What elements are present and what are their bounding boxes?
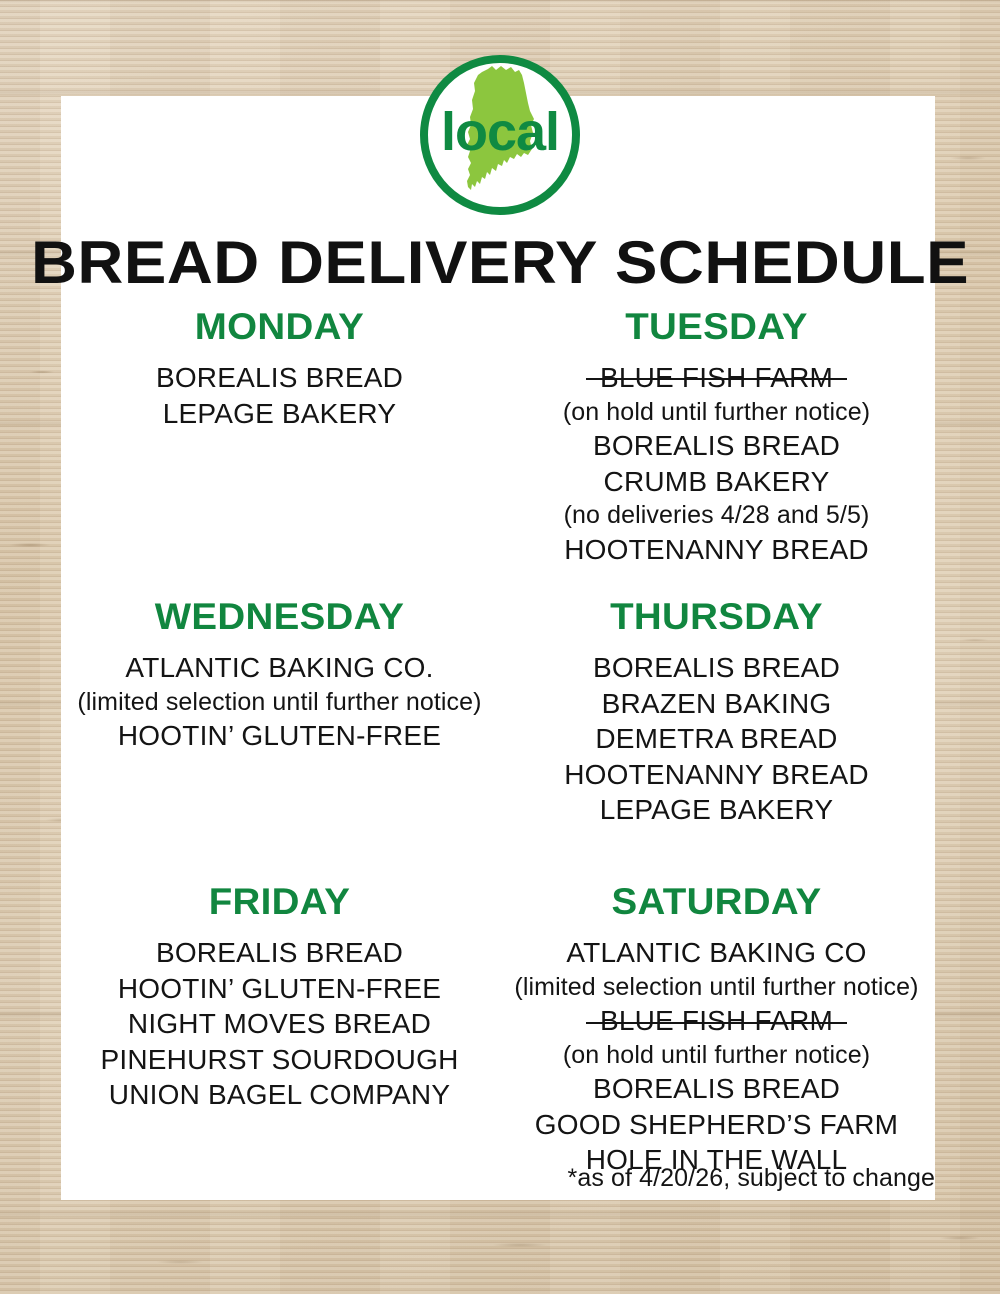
vendor-name: BLUE FISH FARM [498, 1003, 935, 1039]
delivery-note: (on hold until further notice) [498, 1039, 935, 1072]
schedule-row-2: WEDNESDAY ATLANTIC BAKING CO.(limited se… [61, 596, 935, 881]
day-column-thursday: THURSDAY BOREALIS BREADBRAZEN BAKINGDEME… [498, 596, 935, 881]
vendor-name: BOREALIS BREAD [61, 360, 498, 396]
vendor-name: BRAZEN BAKING [498, 686, 935, 722]
schedule-row-1: MONDAY BOREALIS BREADLEPAGE BAKERY TUESD… [61, 306, 935, 596]
day-heading-wednesday: WEDNESDAY [52, 596, 506, 638]
day-heading-thursday: THURSDAY [489, 596, 943, 638]
delivery-note: (no deliveries 4/28 and 5/5) [498, 499, 935, 532]
day-column-wednesday: WEDNESDAY ATLANTIC BAKING CO.(limited se… [61, 596, 498, 881]
vendor-name: PINEHURST SOURDOUGH [61, 1042, 498, 1078]
vendor-name: CRUMB BAKERY [498, 464, 935, 500]
day-entries-friday: BOREALIS BREADHOOTIN’ GLUTEN-FREENIGHT M… [61, 935, 498, 1113]
vendor-name: DEMETRA BREAD [498, 721, 935, 757]
logo-wordmark: local [441, 102, 559, 162]
delivery-note: (limited selection until further notice) [61, 686, 498, 719]
day-heading-monday: MONDAY [52, 306, 506, 348]
schedule-grid: MONDAY BOREALIS BREADLEPAGE BAKERY TUESD… [61, 306, 935, 881]
day-entries-tuesday: BLUE FISH FARM(on hold until further not… [498, 360, 935, 567]
day-entries-wednesday: ATLANTIC BAKING CO.(limited selection un… [61, 650, 498, 754]
delivery-note: (limited selection until further notice) [498, 971, 935, 1004]
day-entries-saturday: ATLANTIC BAKING CO(limited selection unt… [498, 935, 935, 1178]
vendor-name: ATLANTIC BAKING CO [498, 935, 935, 971]
vendor-name: BOREALIS BREAD [498, 428, 935, 464]
vendor-name: HOOTENANNY BREAD [498, 532, 935, 568]
delivery-note: (on hold until further notice) [498, 396, 935, 429]
vendor-name: LEPAGE BAKERY [498, 792, 935, 828]
vendor-name: BOREALIS BREAD [498, 650, 935, 686]
local-logo: local [418, 53, 582, 217]
vendor-name: BOREALIS BREAD [498, 1071, 935, 1107]
vendor-name: GOOD SHEPHERD’S FARM [498, 1107, 935, 1143]
vendor-name-struck: BLUE FISH FARM [600, 1003, 833, 1039]
page-title: BREAD DELIVERY SCHEDULE [0, 228, 1000, 297]
vendor-name: NIGHT MOVES BREAD [61, 1006, 498, 1042]
local-logo-svg: local [418, 53, 582, 217]
day-heading-saturday: SATURDAY [489, 881, 943, 923]
vendor-name: HOOTIN’ GLUTEN-FREE [61, 718, 498, 754]
day-column-tuesday: TUESDAY BLUE FISH FARM(on hold until fur… [498, 306, 935, 596]
vendor-name: LEPAGE BAKERY [61, 396, 498, 432]
vendor-name: ATLANTIC BAKING CO. [61, 650, 498, 686]
vendor-name: HOOTENANNY BREAD [498, 757, 935, 793]
day-entries-thursday: BOREALIS BREADBRAZEN BAKINGDEMETRA BREAD… [498, 650, 935, 828]
day-heading-friday: FRIDAY [52, 881, 506, 923]
vendor-name: HOOTIN’ GLUTEN-FREE [61, 971, 498, 1007]
day-heading-tuesday: TUESDAY [489, 306, 943, 348]
vendor-name-struck: BLUE FISH FARM [600, 360, 833, 396]
vendor-name: BLUE FISH FARM [498, 360, 935, 396]
day-entries-monday: BOREALIS BREADLEPAGE BAKERY [61, 360, 498, 431]
day-column-monday: MONDAY BOREALIS BREADLEPAGE BAKERY [61, 306, 498, 596]
vendor-name: UNION BAGEL COMPANY [61, 1077, 498, 1113]
vendor-name: BOREALIS BREAD [61, 935, 498, 971]
footnote: *as of 4/20/26, subject to change [0, 1164, 935, 1193]
